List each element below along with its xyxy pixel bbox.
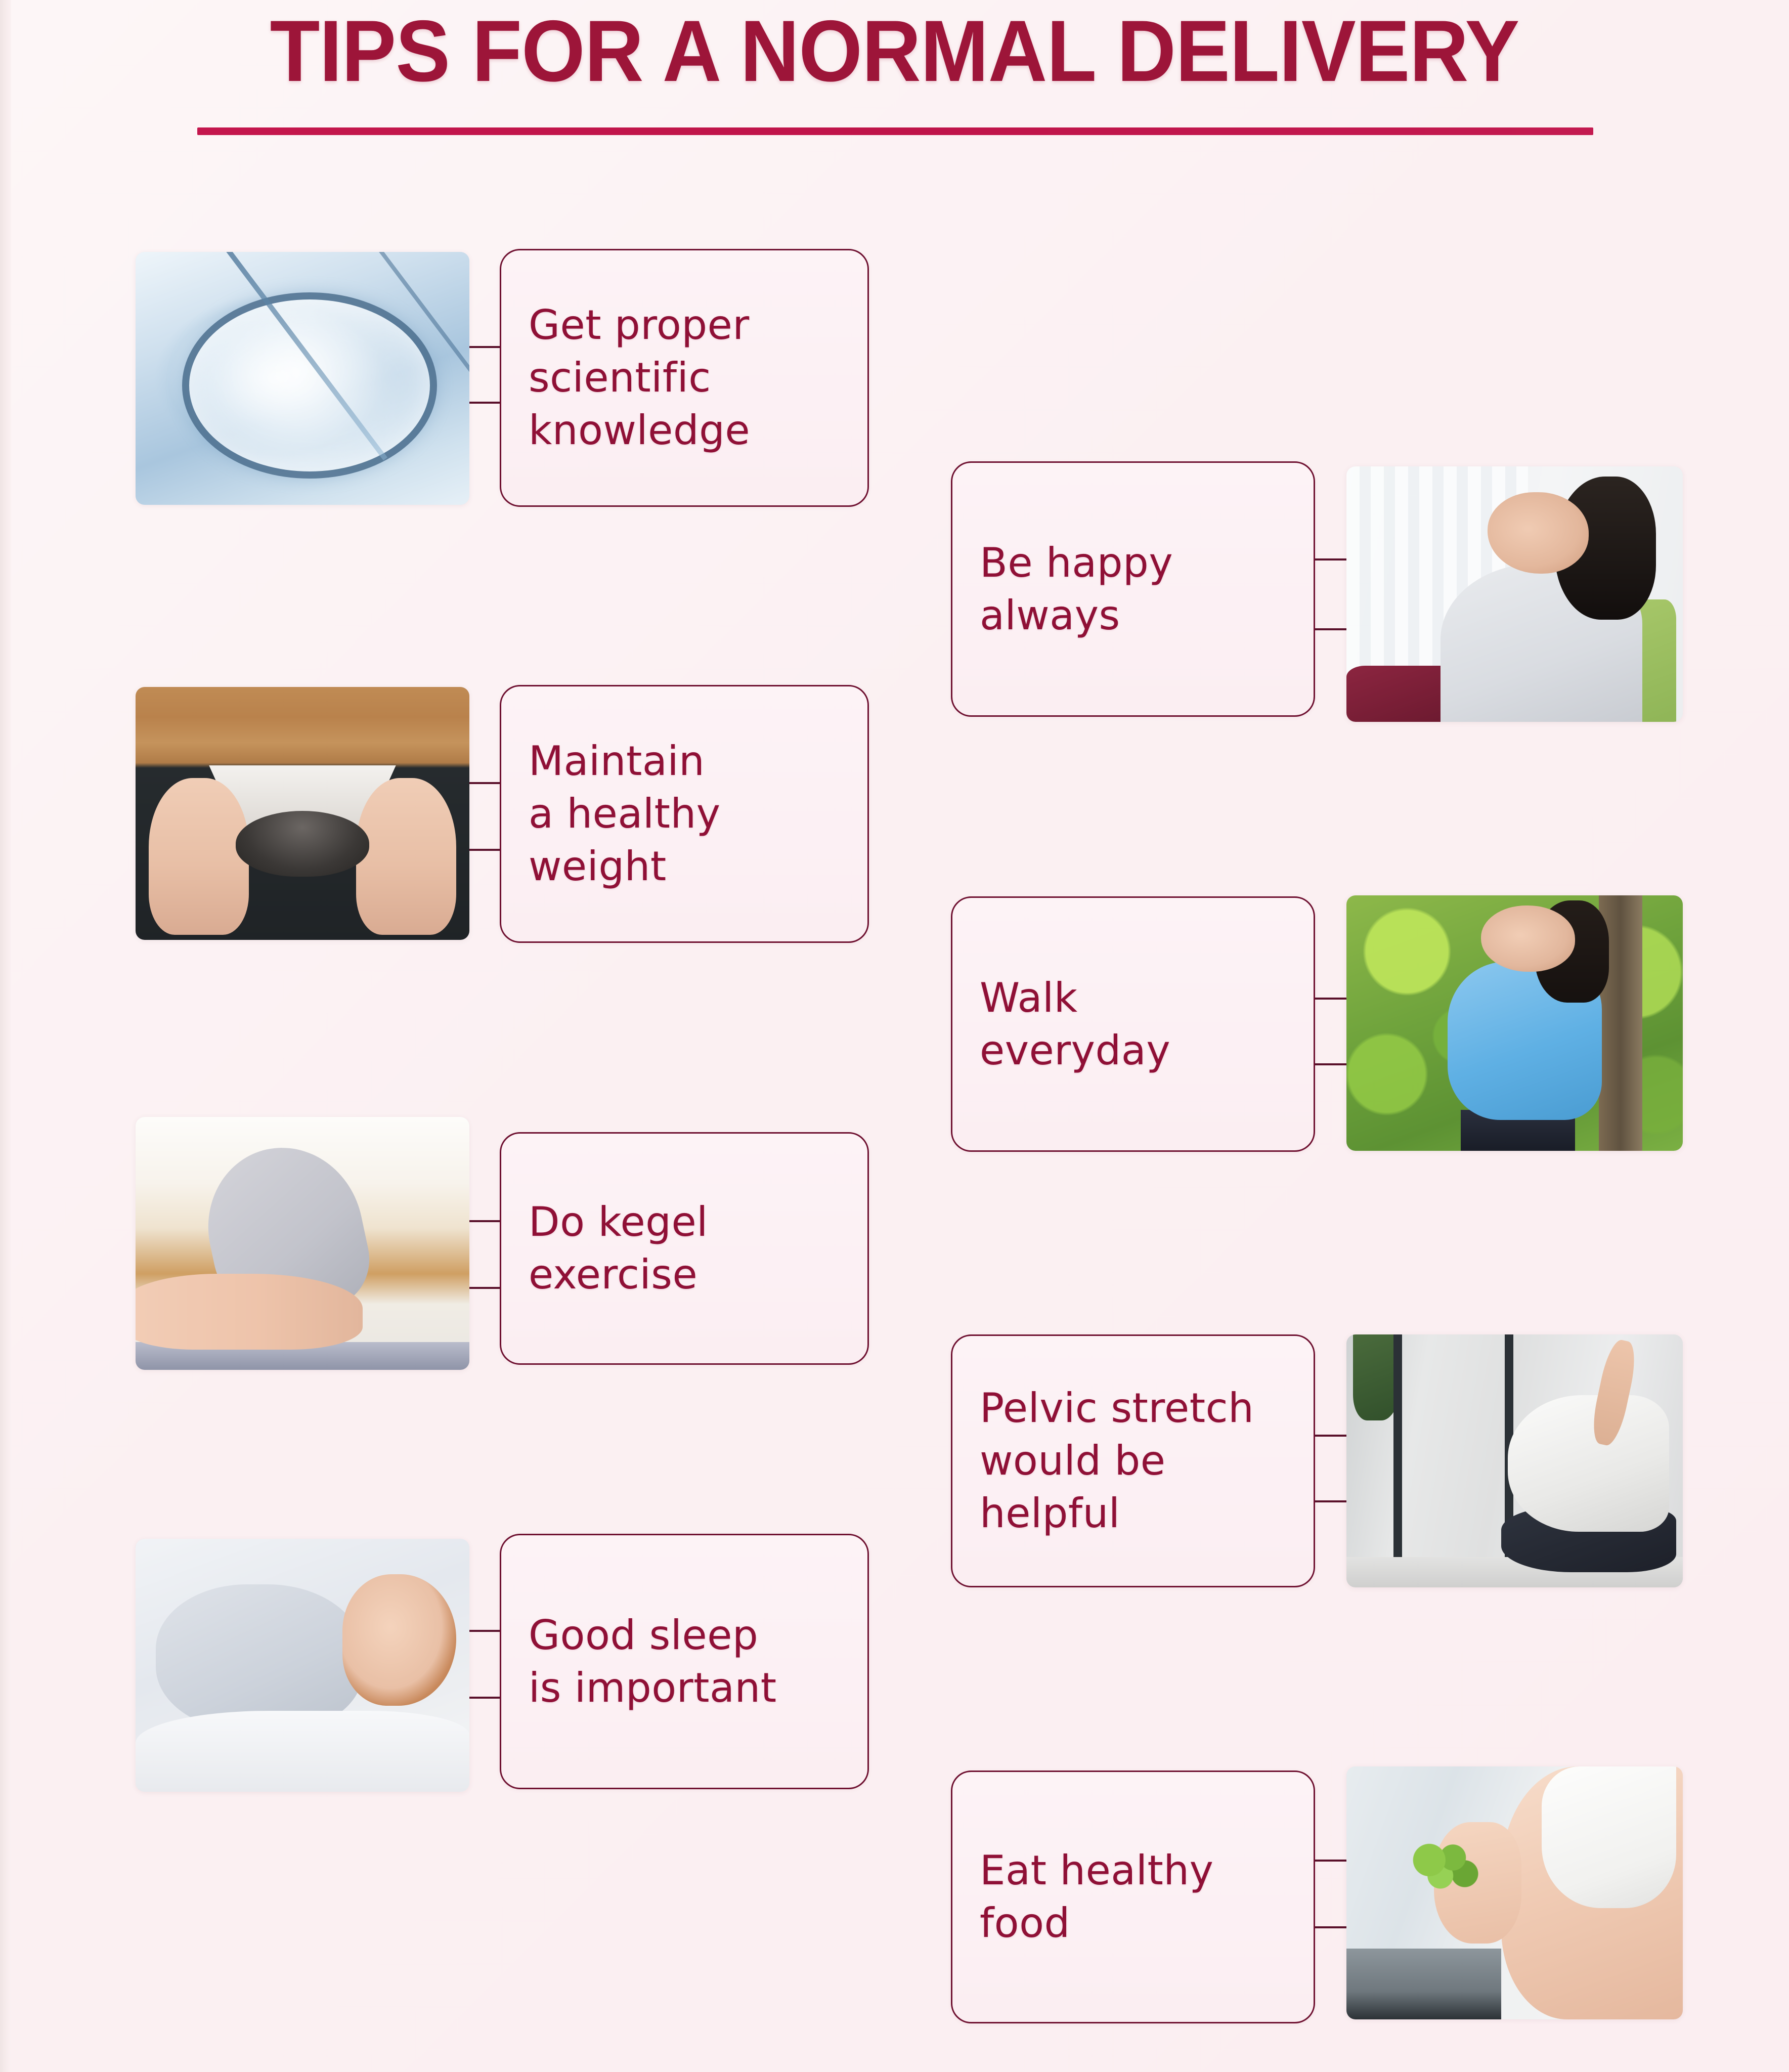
tip-textbox[interactable]: Eat healthy food: [951, 1771, 1315, 2023]
pregnant-woman-walking-in-park-image: [1346, 895, 1683, 1151]
tip-textbox[interactable]: Walk everyday: [951, 896, 1315, 1152]
woman-lying-on-yoga-mat-image: [136, 1117, 469, 1370]
tip-label: Get proper scientific knowledge: [501, 299, 777, 457]
connector-group: [1315, 461, 1346, 722]
tip-textbox[interactable]: Good sleep is important: [500, 1534, 869, 1789]
connector-group: [469, 252, 500, 507]
infographic-page: TIPS FOR A NORMAL DELIVERY Get proper sc…: [0, 0, 1789, 2072]
tip-label: Maintain a healthy weight: [501, 735, 748, 893]
page-edge-strip: [0, 0, 11, 2072]
tip-card-good-sleep-is-important[interactable]: Good sleep is important: [136, 1539, 869, 1792]
woman-doing-side-stretch-image: [1346, 1334, 1683, 1587]
tip-label: Walk everyday: [952, 972, 1198, 1077]
page-title: TIPS FOR A NORMAL DELIVERY: [54, 7, 1735, 96]
tip-textbox[interactable]: Do kegel exercise: [500, 1132, 869, 1365]
connector-group: [469, 687, 500, 943]
tip-card-get-proper-scientific-knowledge[interactable]: Get proper scientific knowledge: [136, 252, 869, 507]
pregnant-woman-resting-image: [1346, 466, 1683, 722]
tip-textbox[interactable]: Pelvic stretch would be helpful: [951, 1334, 1315, 1587]
connector-group: [1315, 896, 1346, 1152]
header: TIPS FOR A NORMAL DELIVERY: [0, 0, 1789, 96]
connector-group: [469, 1539, 500, 1792]
tip-card-maintain-a-healthy-weight[interactable]: Maintain a healthy weight: [136, 687, 869, 943]
feet-on-weighing-scale-image: [136, 687, 469, 940]
tip-card-pelvic-stretch-would-be-helpful[interactable]: Pelvic stretch would be helpful: [951, 1334, 1683, 1587]
connector-group: [1315, 1771, 1346, 2023]
tip-card-be-happy-always[interactable]: Be happy always: [951, 461, 1683, 722]
tip-label: Eat healthy food: [952, 1844, 1241, 1950]
tip-card-do-kegel-exercise[interactable]: Do kegel exercise: [136, 1117, 869, 1370]
pregnant-woman-sleeping-image: [136, 1539, 469, 1792]
tip-card-eat-healthy-food[interactable]: Eat healthy food: [951, 1771, 1683, 2023]
pregnant-woman-holding-greens-image: [1346, 1766, 1683, 2019]
tip-textbox[interactable]: Maintain a healthy weight: [500, 685, 869, 943]
ivf-petri-dish-image: [136, 252, 469, 505]
tip-label: Do kegel exercise: [501, 1196, 735, 1301]
tip-label: Good sleep is important: [501, 1609, 804, 1714]
connector-group: [1315, 1334, 1346, 1587]
tip-card-walk-everyday[interactable]: Walk everyday: [951, 896, 1683, 1152]
connector-group: [469, 1117, 500, 1370]
tip-textbox[interactable]: Get proper scientific knowledge: [500, 249, 869, 507]
tip-label: Pelvic stretch would be helpful: [952, 1382, 1281, 1540]
title-underline-rule: [197, 127, 1593, 135]
tip-label: Be happy always: [952, 537, 1200, 642]
tip-textbox[interactable]: Be happy always: [951, 461, 1315, 717]
